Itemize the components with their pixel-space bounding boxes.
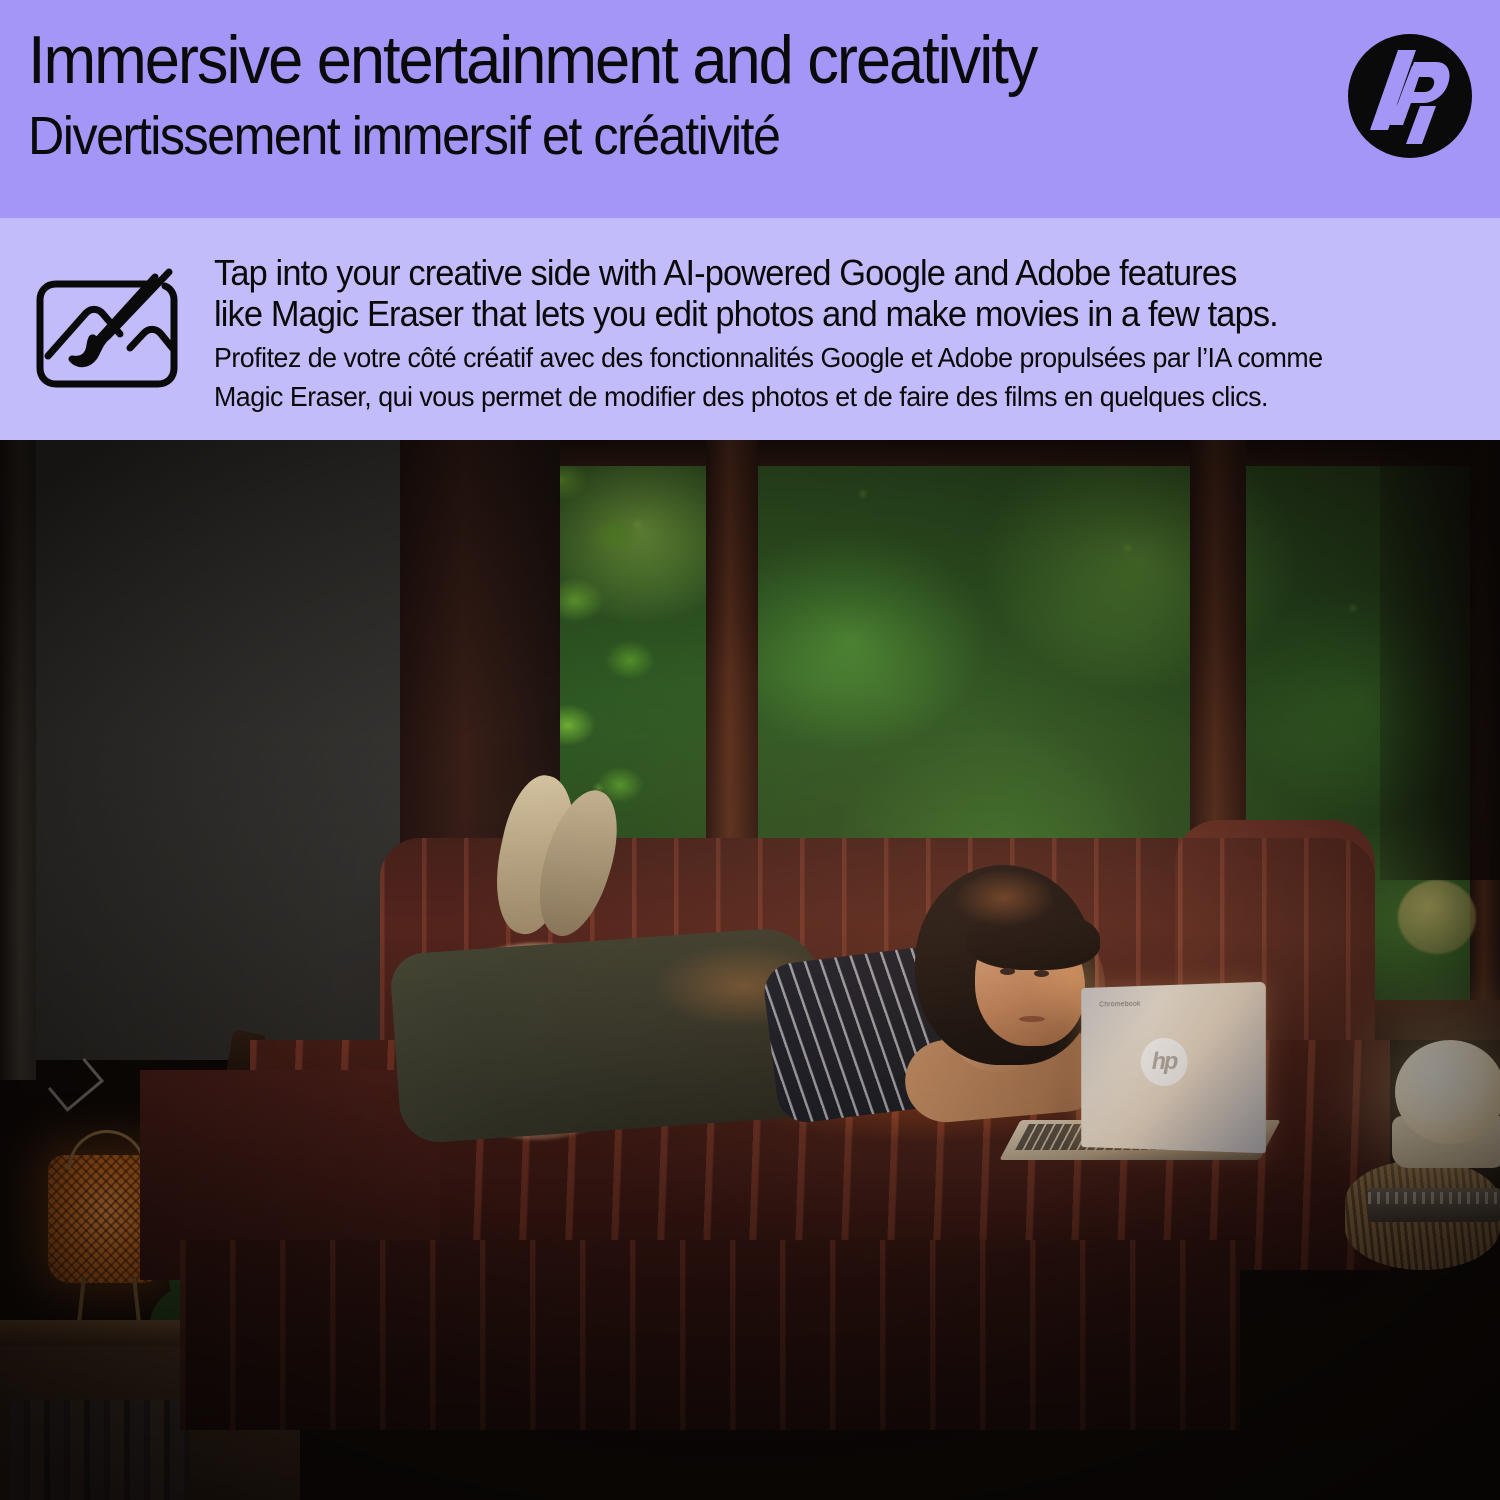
wall-hook bbox=[48, 1058, 104, 1112]
feature-french-line1: Profitez de votre côté créatif avec des … bbox=[214, 341, 1419, 375]
window-top-beam bbox=[500, 440, 1500, 466]
feature-english-line2: like Magic Eraser that lets you edit pho… bbox=[214, 293, 1419, 334]
feature-english-line1: Tap into your creative side with AI-powe… bbox=[214, 252, 1419, 293]
sofa-front-ribs bbox=[180, 1240, 1240, 1430]
notebook-spiral-rings bbox=[1368, 1192, 1500, 1204]
feature-copy: Tap into your creative side with AI-powe… bbox=[214, 250, 1476, 414]
lamp-handle bbox=[68, 1130, 146, 1170]
feature-french-line2: Magic Eraser, qui vous permet de modifie… bbox=[214, 380, 1419, 414]
wall-edge bbox=[0, 440, 36, 1080]
marketing-banner: Immersive entertainment and creativity D… bbox=[0, 0, 1500, 1500]
laptop-hp-logo-text: hp bbox=[1141, 1038, 1188, 1086]
books-row bbox=[10, 1400, 190, 1500]
hp-logo bbox=[1340, 26, 1480, 166]
headline-group: Immersive entertainment and creativity D… bbox=[28, 26, 1328, 164]
globe-lamp bbox=[1395, 1040, 1500, 1144]
lifestyle-photo: Chromebook hp CASIO bbox=[0, 440, 1500, 1500]
right-shadow bbox=[1380, 440, 1500, 880]
outdoor-light-orb bbox=[1398, 880, 1476, 954]
photo-edit-brush-icon bbox=[28, 260, 190, 408]
headline-english: Immersive entertainment and creativity bbox=[28, 26, 1237, 95]
feature-band: Tap into your creative side with AI-powe… bbox=[0, 218, 1500, 440]
hair-highlight bbox=[950, 870, 1070, 950]
headline-french: Divertissement immersif et créativité bbox=[28, 109, 1237, 164]
header-band: Immersive entertainment and creativity D… bbox=[0, 0, 1500, 218]
laptop-chromebook-label: Chromebook bbox=[1099, 1000, 1157, 1008]
